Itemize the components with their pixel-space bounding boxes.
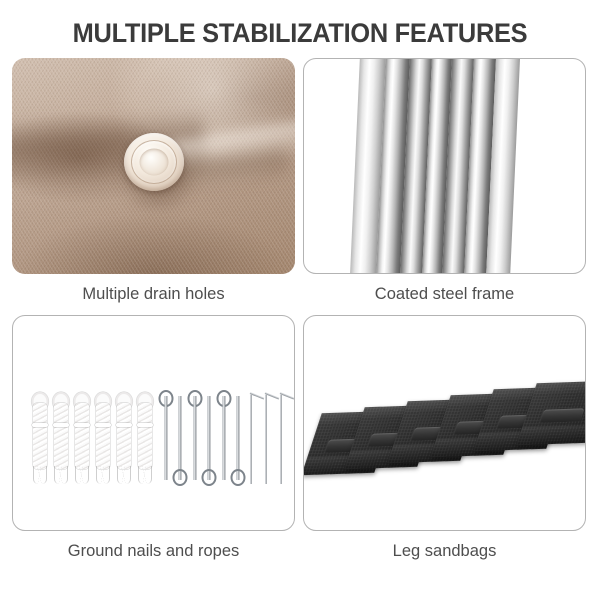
guy-rope (94, 392, 111, 484)
steel-tubes-photo (350, 58, 520, 274)
guy-rope (52, 392, 69, 484)
feature-cell-leg-sandbags: Leg sandbags (303, 315, 586, 562)
stake-shaft (178, 396, 181, 480)
stake-shaft (236, 396, 239, 480)
feature-image-steel-frame (303, 58, 586, 274)
feature-caption-steel-frame: Coated steel frame (303, 285, 586, 305)
rope-band (95, 423, 111, 427)
rope-tail (54, 466, 68, 484)
rope-tail (138, 466, 152, 484)
rope-coil (96, 403, 110, 469)
guy-rope (136, 392, 153, 484)
ground-nail (292, 390, 295, 484)
stake-shaft (164, 396, 167, 480)
rope-coil (75, 403, 89, 469)
feature-image-drain-holes (12, 58, 295, 274)
stake-shaft (193, 396, 196, 480)
ground-nail (277, 390, 293, 484)
feature-cell-steel-frame: Coated steel frame (303, 58, 586, 305)
nail-shaft (250, 395, 252, 484)
rope-coil (117, 403, 131, 469)
rope-tail (117, 466, 131, 484)
stake-shaft (207, 396, 210, 480)
rope-tail (75, 466, 89, 484)
feature-image-leg-sandbags (303, 315, 586, 531)
eye-stake (217, 390, 231, 486)
sandbag-handle (540, 408, 585, 422)
feature-cell-nails-ropes: Ground nails and ropes (12, 315, 295, 562)
rope-coil (54, 403, 68, 469)
guy-rope (31, 392, 48, 484)
rope-band (137, 423, 153, 427)
eye-stake (188, 390, 202, 486)
stake-eye-loop (202, 469, 217, 486)
stake-eye-loop (173, 469, 188, 486)
rope-band (116, 423, 132, 427)
rope-band (32, 423, 48, 427)
rope-tail (33, 466, 47, 484)
eye-stake (159, 390, 173, 486)
feature-grid: Multiple drain holes Coated steel frame (0, 58, 600, 588)
feature-caption-nails-ropes: Ground nails and ropes (12, 542, 295, 562)
fabric-photo (12, 58, 295, 274)
sandbag-bottom-fold (516, 425, 586, 446)
page-title: MULTIPLE STABILIZATION FEATURES (18, 18, 582, 49)
eye-stake (202, 390, 216, 486)
feature-cell-drain-holes: Multiple drain holes (12, 58, 295, 305)
stake-eye-loop (231, 469, 246, 486)
feature-caption-drain-holes: Multiple drain holes (12, 285, 295, 305)
feature-caption-leg-sandbags: Leg sandbags (303, 542, 586, 562)
ground-nail (247, 390, 263, 484)
guy-rope (73, 392, 90, 484)
rope-band (53, 423, 69, 427)
nail-shaft (265, 395, 267, 484)
drain-hole-grommet-icon (124, 133, 184, 191)
eye-stake (173, 390, 187, 486)
guy-rope (115, 392, 132, 484)
rope-coil (33, 403, 47, 469)
rope-band (74, 423, 90, 427)
feature-image-nails-ropes (12, 315, 295, 531)
eye-stake (231, 390, 245, 486)
feature-infographic: MULTIPLE STABILIZATION FEATURES Multiple… (0, 0, 600, 600)
sandbags-photo (312, 378, 580, 474)
ground-nail (262, 390, 278, 484)
stake-shaft (222, 396, 225, 480)
nail-shaft (280, 395, 282, 484)
hardware-photo (13, 316, 294, 530)
rope-coil (138, 403, 152, 469)
rope-tail (96, 466, 110, 484)
